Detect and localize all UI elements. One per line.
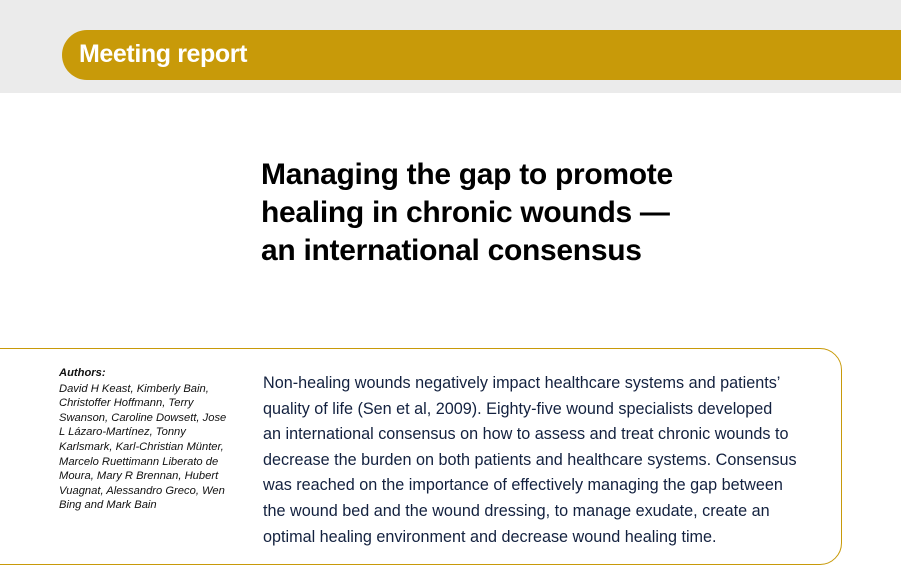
section-banner-label: Meeting report xyxy=(79,40,247,69)
section-banner: Meeting report xyxy=(62,30,901,80)
authors-names: David H Keast, Kimberly Bain, Christoffe… xyxy=(59,382,234,513)
article-title-line-2: healing in chronic wounds — xyxy=(261,194,861,232)
abstract-line-6: the wound bed and the wound dressing, to… xyxy=(263,499,828,525)
article-title-line-1: Managing the gap to promote xyxy=(261,156,861,194)
abstract-text: Non-healing wounds negatively impact hea… xyxy=(263,371,828,550)
abstract-line-1: Non-healing wounds negatively impact hea… xyxy=(263,371,828,397)
abstract-line-3: an international consensus on how to ass… xyxy=(263,422,828,448)
abstract-line-2: quality of life (Sen et al, 2009). Eight… xyxy=(263,397,828,423)
header-band: Meeting report xyxy=(0,0,901,93)
authors-heading: Authors: xyxy=(59,366,234,381)
article-title: Managing the gap to promote healing in c… xyxy=(261,156,861,270)
abstract-panel: Authors: David H Keast, Kimberly Bain, C… xyxy=(0,348,842,565)
abstract-line-4: decrease the burden on both patients and… xyxy=(263,448,828,474)
abstract-line-5: was reached on the importance of effecti… xyxy=(263,473,828,499)
authors-block: Authors: David H Keast, Kimberly Bain, C… xyxy=(59,366,234,513)
article-title-line-3: an international consensus xyxy=(261,232,861,270)
abstract-line-7: optimal healing environment and decrease… xyxy=(263,525,828,551)
